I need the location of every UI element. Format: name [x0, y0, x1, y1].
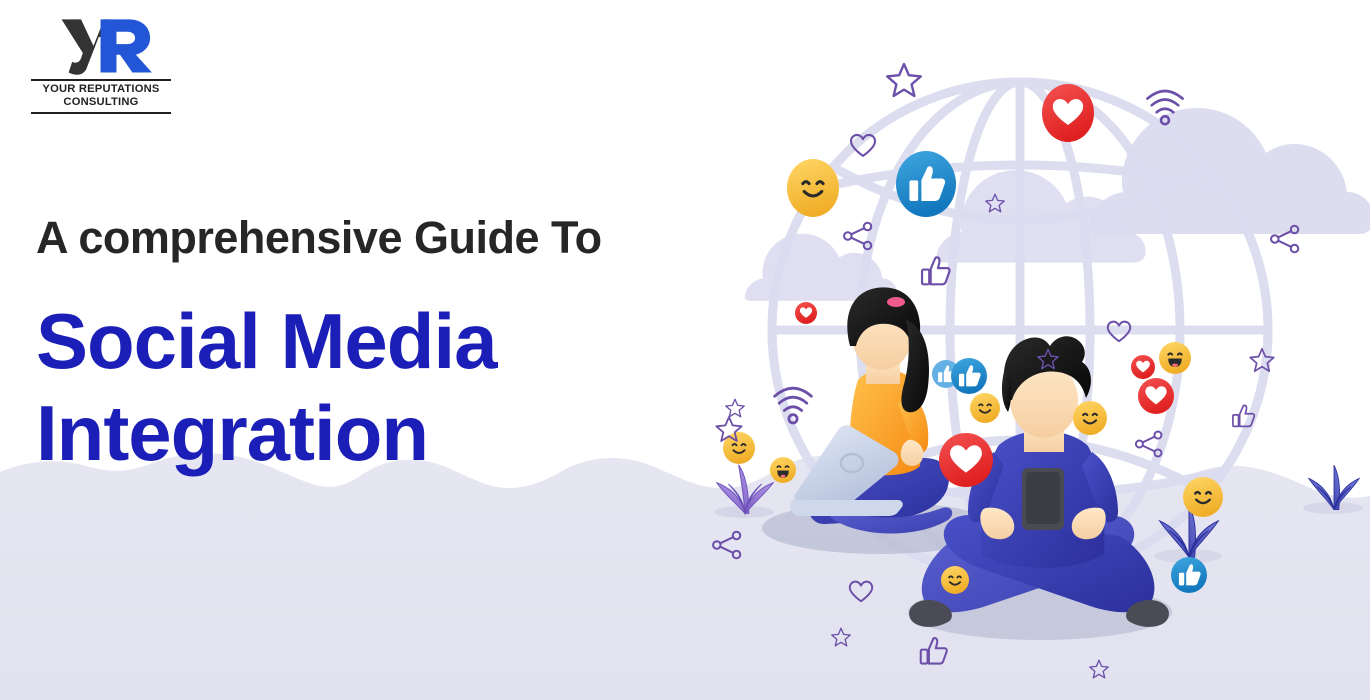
brand-logo[interactable]: YOUR REPUTATIONS CONSULTING	[28, 14, 174, 114]
share-outline-icon	[713, 532, 740, 559]
eyebrow-text: A comprehensive Guide To	[36, 212, 602, 264]
heart-badge	[1042, 84, 1094, 142]
social-media-illustration	[670, 0, 1370, 700]
star-outline-icon	[887, 64, 921, 96]
outline-icon-group	[713, 64, 1298, 678]
wifi-outline-icon	[1147, 91, 1182, 124]
thumbs-up-outline-icon	[922, 257, 950, 284]
woman-with-laptop	[762, 287, 998, 554]
star-outline-icon	[1250, 349, 1274, 371]
heart-outline-icon	[851, 135, 875, 156]
share-outline-icon	[1271, 226, 1298, 253]
star-outline-icon	[1090, 660, 1108, 678]
thumbs-up-outline-icon	[1233, 405, 1254, 426]
page-title: Social Media Integration	[36, 295, 497, 479]
star-outline-icon	[726, 399, 744, 417]
share-outline-icon	[1136, 432, 1162, 457]
smiley-badge	[787, 159, 839, 217]
thumbs-up-outline-icon	[921, 638, 947, 664]
star-outline-icon	[832, 628, 850, 646]
plant-group	[714, 465, 1363, 563]
cloud-group	[745, 108, 1370, 301]
man-with-phone	[908, 336, 1172, 640]
thumbs-up-badge	[896, 151, 956, 217]
reaction-badge-group	[723, 84, 1223, 594]
star-outline-icon	[716, 417, 741, 441]
yr-monogram-icon	[35, 14, 168, 76]
globe-graphic	[762, 82, 1278, 578]
logo-rule-bottom	[31, 112, 171, 114]
wifi-outline-icon	[775, 388, 812, 423]
share-outline-icon	[844, 223, 871, 250]
logo-company-name: YOUR REPUTATIONS CONSULTING	[28, 81, 174, 109]
star-outline-icon	[1038, 349, 1058, 368]
banner-root: YOUR REPUTATIONS CONSULTING A comprehens…	[0, 0, 1370, 700]
star-outline-icon	[986, 194, 1004, 212]
heart-outline-icon	[1108, 322, 1130, 342]
heart-outline-icon	[850, 582, 872, 602]
